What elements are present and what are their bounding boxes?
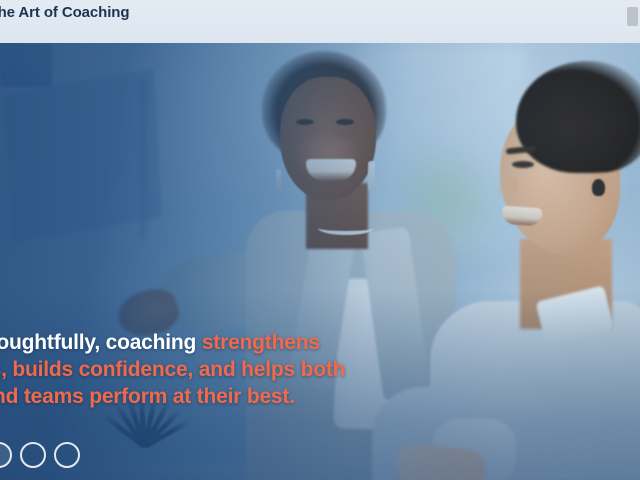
page-title-rest: The Art of Coaching (0, 4, 129, 21)
page-root: done thoughtfully, coaching strengthens … (0, 0, 640, 480)
carousel-dot-1[interactable] (0, 442, 12, 468)
headline-segment-white: done thoughtfully, coaching (0, 331, 202, 354)
page-header-bar: Briefs® The Art of Coaching ion (0, 0, 640, 43)
headline-segment-accent-2: onships, builds confidence, and helps bo… (0, 358, 345, 381)
carousel-dots (0, 442, 80, 468)
page-title: Briefs® The Art of Coaching (0, 3, 129, 21)
carousel-dot-2[interactable] (20, 442, 46, 468)
hero-carousel-slide[interactable]: done thoughtfully, coaching strengthens … (0, 43, 640, 480)
carousel-dot-3[interactable] (54, 442, 80, 468)
headline-segment-accent-3: duals and teams perform at their best. (0, 385, 295, 408)
hero-headline: done thoughtfully, coaching strengthens … (0, 329, 462, 410)
vertical-scroll-thumb[interactable] (627, 7, 638, 26)
headline-segment-accent-1: strengthens (202, 331, 320, 354)
vertical-scrollbar[interactable] (626, 0, 640, 480)
